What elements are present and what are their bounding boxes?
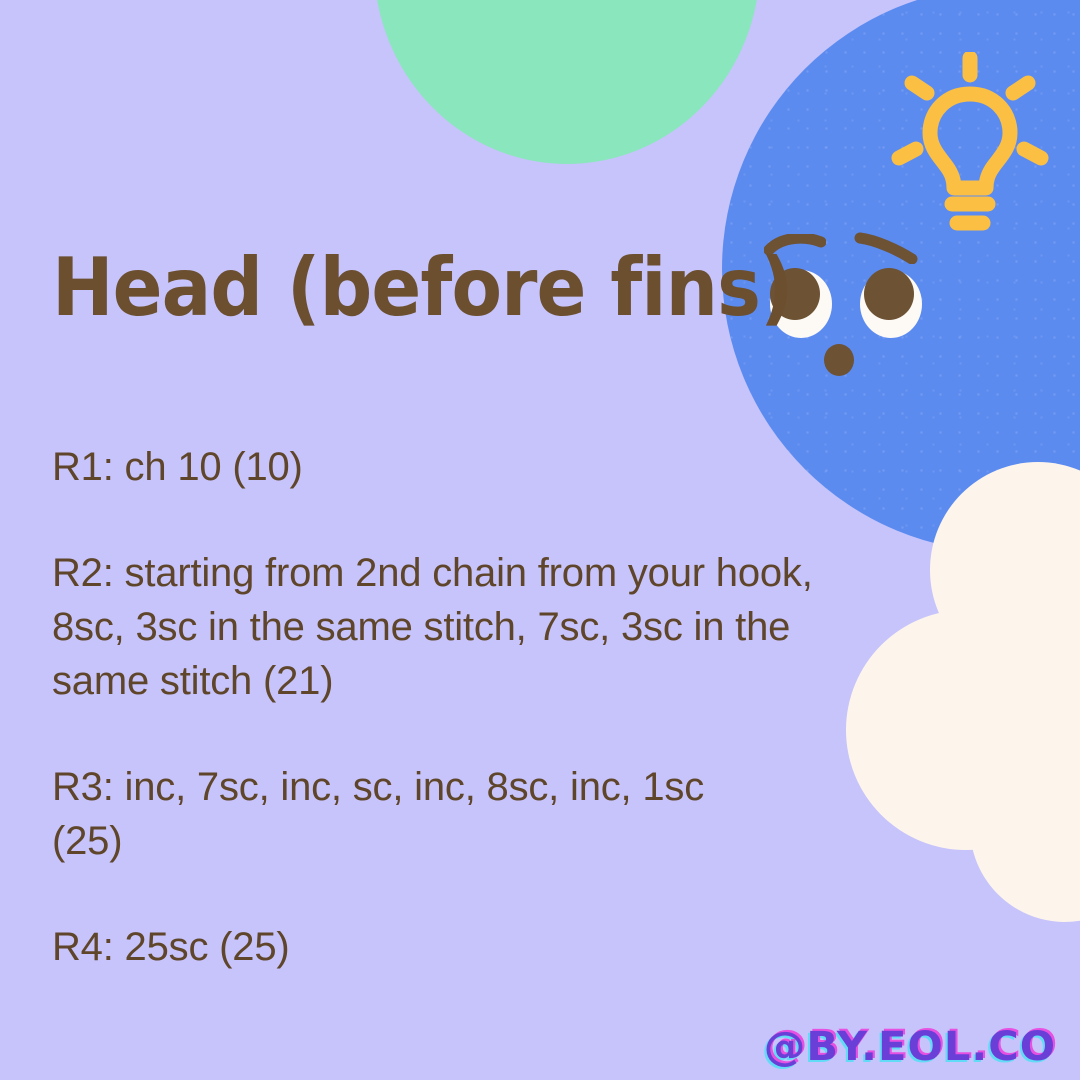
green-circle-decoration: [374, 0, 760, 164]
page-title: Head (before fins): [52, 248, 823, 328]
lightbulb-icon: [884, 52, 1056, 234]
pattern-row-r1: R1: ch 10 (10): [52, 440, 752, 494]
pattern-row-r3: R3: inc, 7sc, inc, sc, inc, 8sc, inc, 1s…: [52, 760, 752, 868]
pattern-card: Head (before fins) R1: ch 10 (10) R2: st…: [0, 0, 1080, 1080]
pattern-row-r4: R4: 25sc (25): [52, 920, 752, 974]
content-column: Head (before fins) R1: ch 10 (10) R2: st…: [52, 248, 890, 974]
pattern-rows-list: R1: ch 10 (10) R2: starting from 2nd cha…: [52, 440, 890, 974]
pattern-row-r2: R2: starting from 2nd chain from your ho…: [52, 546, 882, 708]
watermark-handle: @BY.EOL.CO: [764, 1024, 1056, 1070]
